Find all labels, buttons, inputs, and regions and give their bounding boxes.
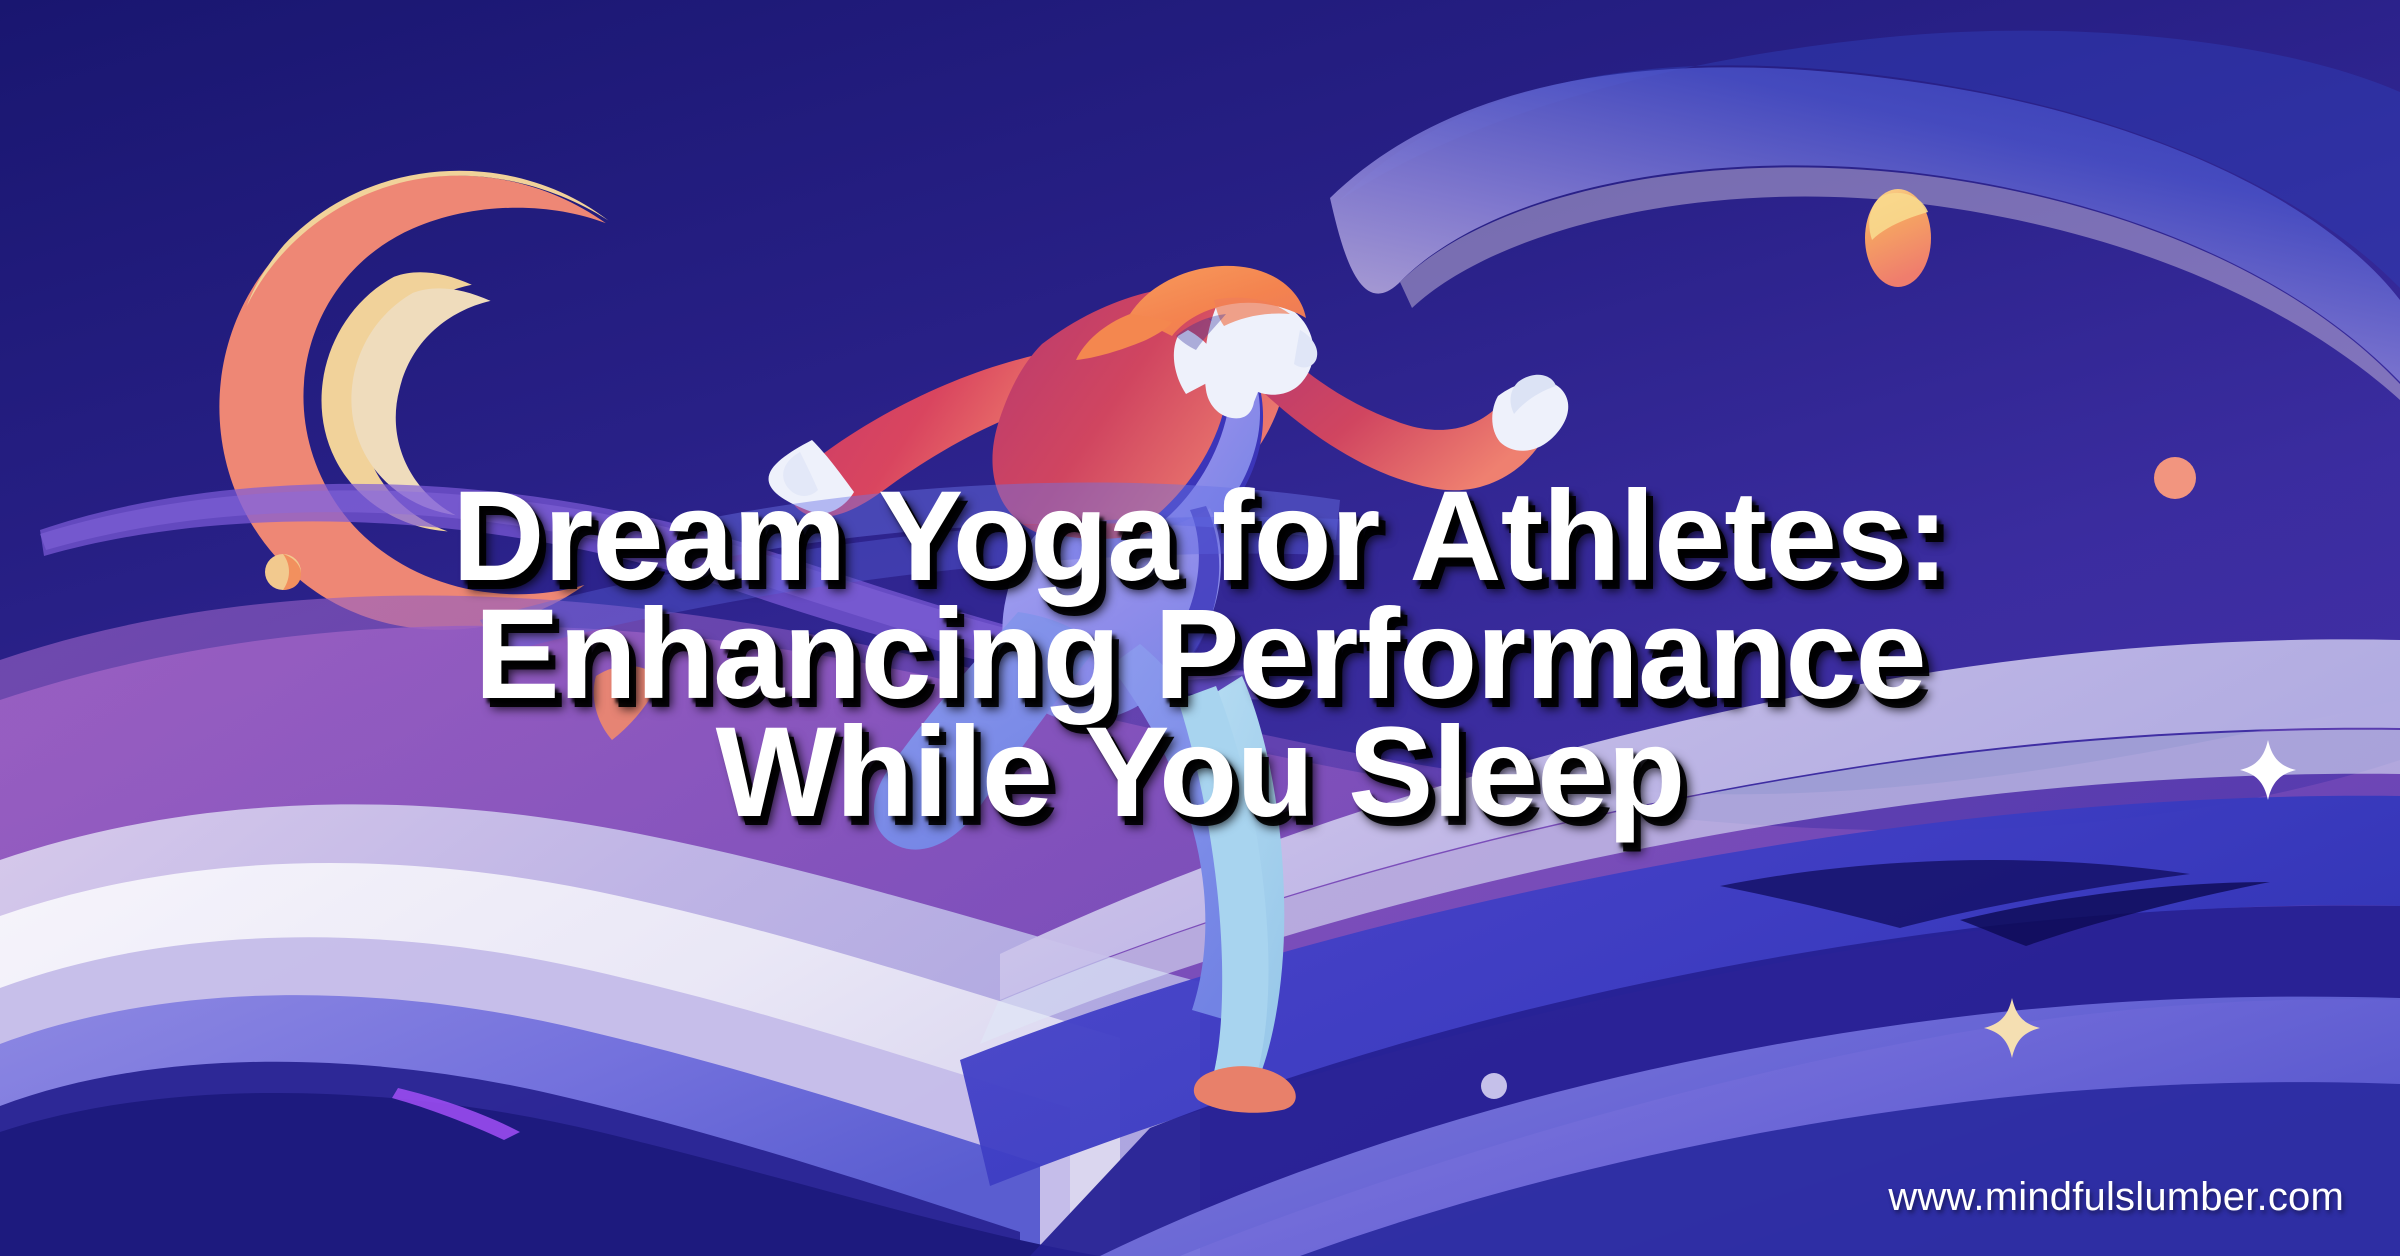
pale-dot <box>1481 1073 1507 1099</box>
salmon-dot <box>2154 457 2196 499</box>
background-illustration <box>0 0 2400 1256</box>
two-tone-dot <box>265 554 301 590</box>
blog-banner: Dream Yoga for Athletes: Enhancing Perfo… <box>0 0 2400 1256</box>
